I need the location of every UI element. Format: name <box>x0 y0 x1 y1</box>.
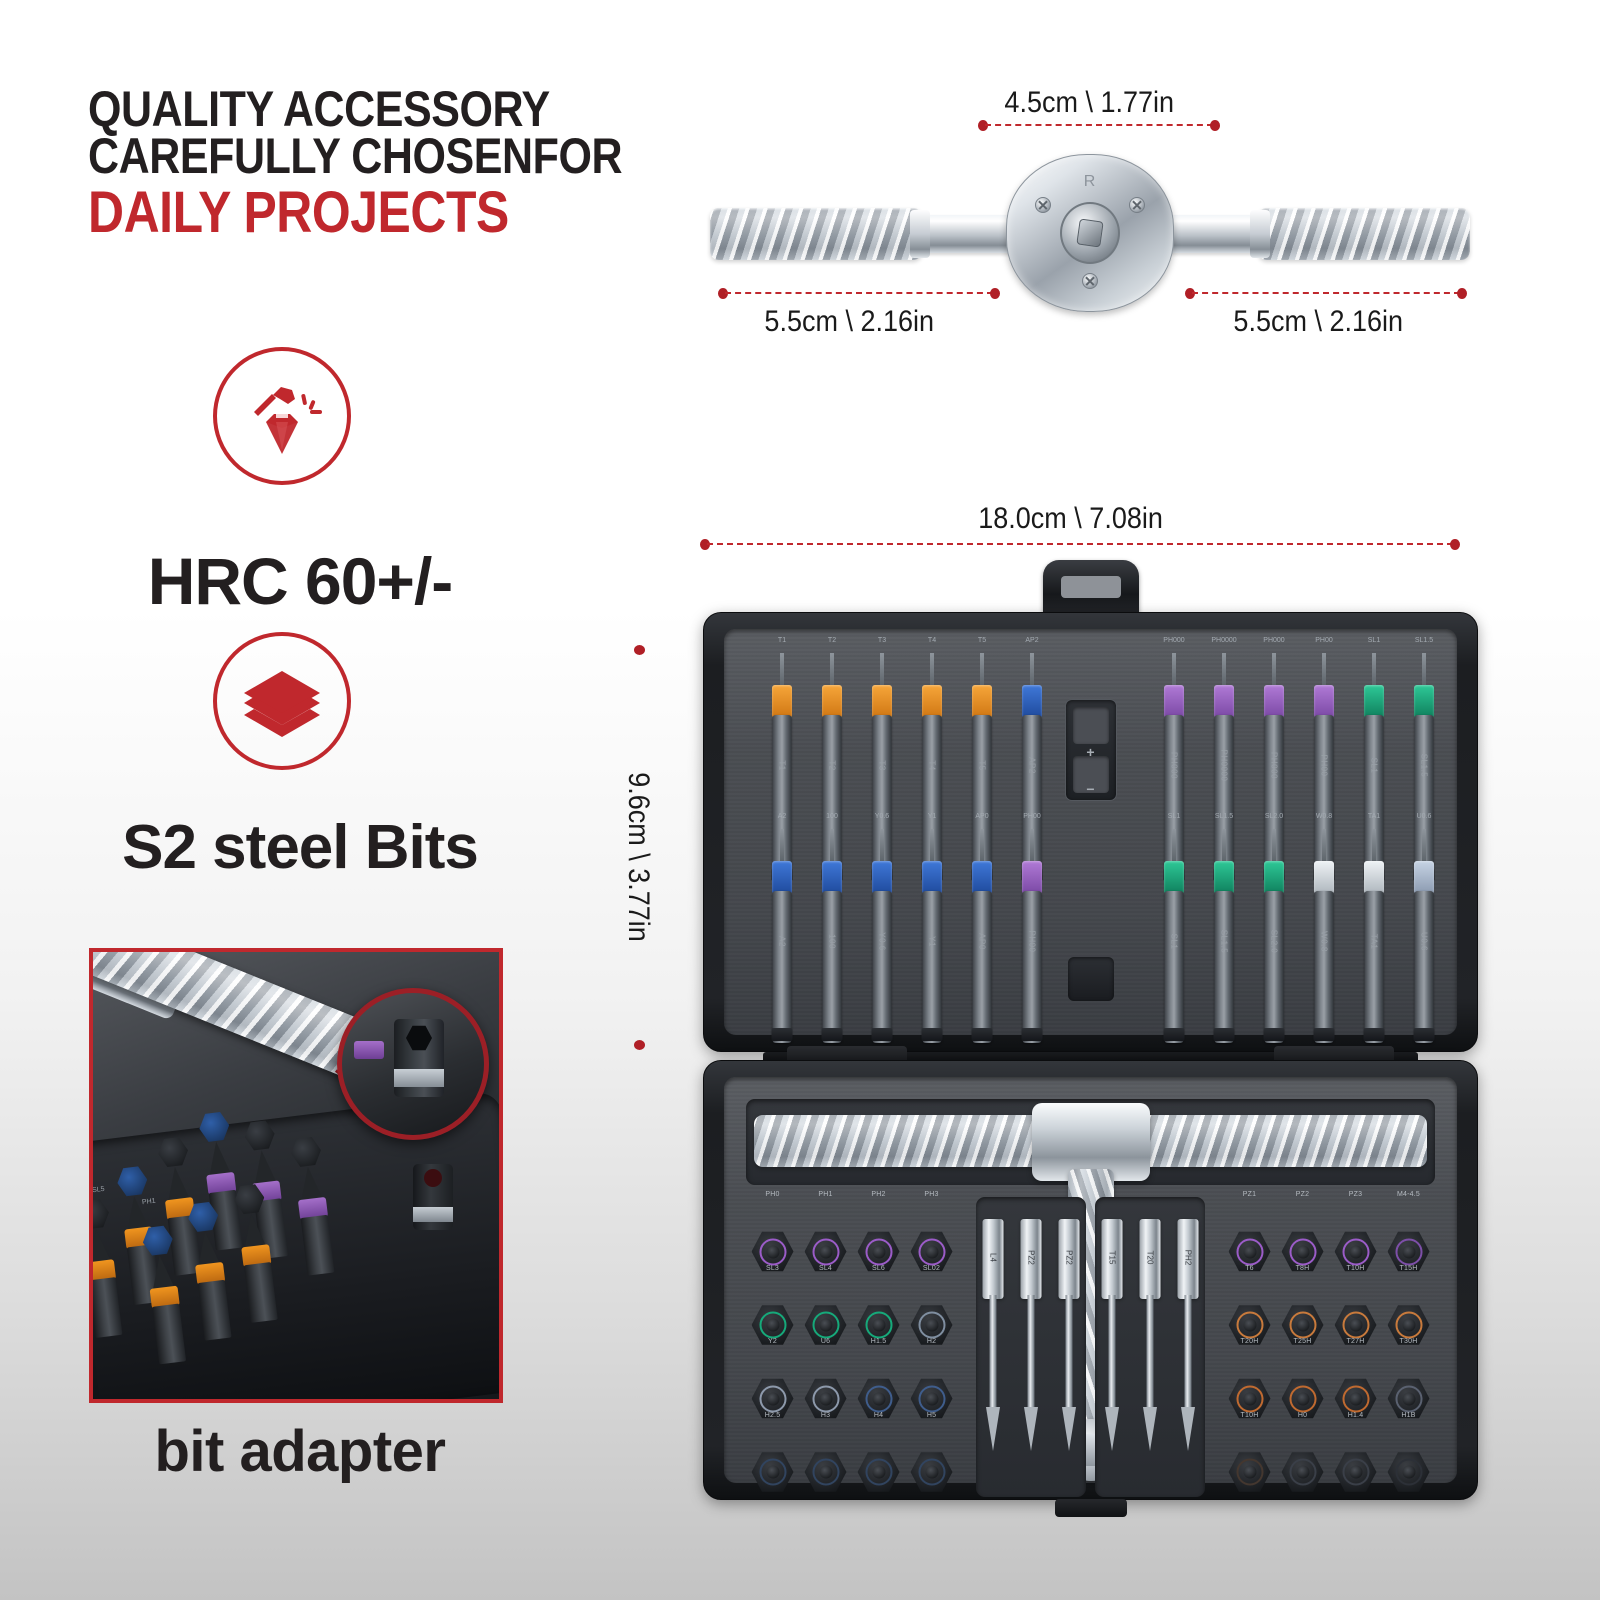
long-bit[interactable]: T20 <box>1139 1219 1161 1469</box>
ratchet-head: R <box>1006 154 1174 312</box>
infographic-canvas: QUALITY ACCESSORY CAREFULLY CHOSENFOR DA… <box>0 0 1600 1600</box>
case-lid: + − T1T1 T2T2 T3T3 T4T4 T5T5 AP2AP2 A2A2… <box>703 612 1478 1052</box>
socket[interactable]: SL4 <box>801 1277 850 1347</box>
lid-bit[interactable]: SL1.5SL1.5 <box>1214 829 1234 1041</box>
base-foam-tray: PH0 PH1 PH2 PH3 SL3 SL4 SL6 SL02 Y2 U6 H… <box>724 1077 1457 1483</box>
dim-line-arm-left <box>718 292 1000 294</box>
socket[interactable]: H4 <box>854 1424 903 1494</box>
lid-bit[interactable]: PH00PH00 <box>1022 829 1042 1041</box>
case-base: PH0 PH1 PH2 PH3 SL3 SL4 SL6 SL02 Y2 U6 H… <box>703 1060 1478 1500</box>
photo-bit <box>236 1212 266 1216</box>
photo-bit <box>247 1149 277 1153</box>
demagnetizer-minus-icon: − <box>1066 781 1116 797</box>
lid-center-recess: + − <box>1065 699 1117 801</box>
ratchet-screw <box>1129 197 1145 213</box>
lid-bit[interactable]: TA1TA1 <box>1364 829 1384 1041</box>
ratchet-collar <box>910 210 930 258</box>
photo-purple-ring <box>354 1041 384 1059</box>
lid-bit[interactable]: SL1SL1 <box>1164 829 1184 1041</box>
mid-bit-well-left: L4 PZ2 PZ2 <box>976 1197 1086 1497</box>
ratchet-direction-mark: R <box>1084 173 1097 191</box>
photo-slot-label: SL5 <box>92 1186 105 1194</box>
headline-line-2: CAREFULLY CHOSENFOR <box>88 133 535 180</box>
socket[interactable]: PH0 <box>748 1203 797 1273</box>
tool-case: + − T1T1 T2T2 T3T3 T4T4 T5T5 AP2AP2 A2A2… <box>703 560 1478 1505</box>
long-bit[interactable]: PH2 <box>1177 1219 1199 1469</box>
socket[interactable]: SL02 <box>907 1277 956 1347</box>
ratchet-arm-right <box>1258 208 1470 260</box>
socket[interactable]: PZ2 <box>1278 1203 1327 1273</box>
hammer-diamond-icon <box>236 370 328 462</box>
dim-label-ratchet-head: 4.5cm \ 1.77in <box>1004 86 1174 120</box>
dim-label-case-width: 18.0cm \ 7.08in <box>978 502 1163 536</box>
headline-block: QUALITY ACCESSORY CAREFULLY CHOSENFOR DA… <box>88 86 608 241</box>
dim-line-arm-right <box>1185 292 1467 294</box>
socket[interactable]: PH3 <box>907 1203 956 1273</box>
socket[interactable]: T30H <box>1384 1350 1433 1420</box>
ratchet-arm-left <box>710 208 922 260</box>
socket[interactable]: U6 <box>801 1350 850 1420</box>
socket[interactable]: PZ3 <box>1331 1203 1380 1273</box>
dim-label-arm-left: 5.5cm \ 2.16in <box>764 305 934 339</box>
photo-caption: bit adapter <box>0 1418 600 1485</box>
long-bit[interactable]: T15 <box>1101 1219 1123 1469</box>
socket[interactable]: H2 <box>907 1350 956 1420</box>
lid-bit[interactable]: W0.8W0.8 <box>1314 829 1334 1041</box>
socket[interactable]: H1.4 <box>1331 1424 1380 1494</box>
socket[interactable]: Y2 <box>748 1350 797 1420</box>
lid-bit[interactable]: AP0AP0 <box>972 829 992 1041</box>
photo-empty-adapter-slot <box>413 1164 453 1230</box>
socket[interactable]: SL6 <box>854 1277 903 1347</box>
photo-bit-adapter <box>394 1019 444 1097</box>
ratchet-t-handle: R <box>710 168 1470 298</box>
socket[interactable]: H5 <box>907 1424 956 1494</box>
long-bit[interactable]: L4 <box>982 1219 1004 1469</box>
ratchet-screw <box>1035 197 1051 213</box>
socket[interactable]: H1B <box>1384 1424 1433 1494</box>
socket[interactable]: T25H <box>1278 1350 1327 1420</box>
mid-bit-well-right: T15 T20 PH2 <box>1095 1197 1205 1497</box>
lid-lower-slot <box>1068 957 1114 1001</box>
layers-stack-icon <box>236 655 328 747</box>
photo-bit <box>201 1140 231 1144</box>
headline-line-1: QUALITY ACCESSORY <box>88 86 535 133</box>
lid-bit[interactable]: SL2.0SL2.0 <box>1264 829 1284 1041</box>
layers-badge <box>213 632 351 770</box>
dim-label-arm-right: 5.5cm \ 2.16in <box>1233 305 1403 339</box>
socket-grid-right: PZ1 PZ2 PZ3 M4-4.5 T6 T8H T10H T15H T20H… <box>1225 1203 1433 1493</box>
lid-bit[interactable]: Y1Y1 <box>922 829 942 1041</box>
lid-bit[interactable]: Y0.6Y0.6 <box>872 829 892 1041</box>
lid-bit[interactable]: A2A2 <box>772 829 792 1041</box>
socket[interactable]: H3 <box>801 1424 850 1494</box>
socket[interactable]: PZ1 <box>1225 1203 1274 1273</box>
long-bit[interactable]: PZ2 <box>1020 1219 1042 1469</box>
dim-label-case-height: 9.6cm \ 3.77in <box>621 758 655 956</box>
headline-line-3: DAILY PROJECTS <box>88 186 535 241</box>
socket[interactable]: PH2 <box>854 1203 903 1273</box>
socket[interactable]: H2.5 <box>748 1424 797 1494</box>
socket[interactable]: H1.5 <box>854 1350 903 1420</box>
hrc-rating-text: HRC 60+/- <box>0 543 600 619</box>
socket[interactable]: PH1 <box>801 1203 850 1273</box>
photo-bit <box>119 1194 149 1198</box>
photo-bit <box>89 1227 111 1231</box>
bit-adapter-photo: SL5 PH1 <box>89 948 503 1403</box>
socket-grid-left: PH0 PH1 PH2 PH3 SL3 SL4 SL6 SL02 Y2 U6 H… <box>748 1203 956 1493</box>
socket[interactable]: T10H <box>1331 1277 1380 1347</box>
dim-line-case-width <box>700 543 1460 545</box>
socket[interactable]: T15H <box>1384 1277 1433 1347</box>
case-foot <box>1055 1499 1127 1517</box>
socket[interactable]: T8H <box>1278 1277 1327 1347</box>
socket[interactable]: T27H <box>1331 1350 1380 1420</box>
long-bit[interactable]: PZ2 <box>1058 1219 1080 1469</box>
steel-type-text: S2 steel Bits <box>0 812 600 883</box>
socket[interactable]: H0 <box>1278 1424 1327 1494</box>
lid-bit[interactable]: U0.6U0.6 <box>1414 829 1434 1041</box>
bit-adapter-magnifier-icon <box>337 988 489 1140</box>
ratchet-screw <box>1082 273 1098 289</box>
socket[interactable]: T6 <box>1225 1277 1274 1347</box>
socket[interactable]: M4-4.5 <box>1384 1203 1433 1273</box>
hammer-diamond-badge <box>213 347 351 485</box>
socket[interactable]: T10H <box>1225 1424 1274 1494</box>
ratchet-square-drive <box>1076 218 1103 247</box>
lid-foam-tray: + − T1T1 T2T2 T3T3 T4T4 T5T5 AP2AP2 A2A2… <box>724 629 1457 1035</box>
dim-line-ratchet-head <box>978 124 1220 126</box>
lid-bit[interactable]: 100100 <box>822 829 842 1041</box>
photo-case-tray: SL5 PH1 <box>89 1091 503 1403</box>
socket[interactable]: SL3 <box>748 1277 797 1347</box>
photo-bit <box>293 1165 323 1169</box>
socket[interactable]: T20H <box>1225 1350 1274 1420</box>
photo-slot-label: PH1 <box>142 1198 156 1207</box>
photo-bit <box>160 1165 190 1169</box>
ratchet-collar <box>1250 210 1270 258</box>
ratchet-hub <box>1060 202 1120 264</box>
